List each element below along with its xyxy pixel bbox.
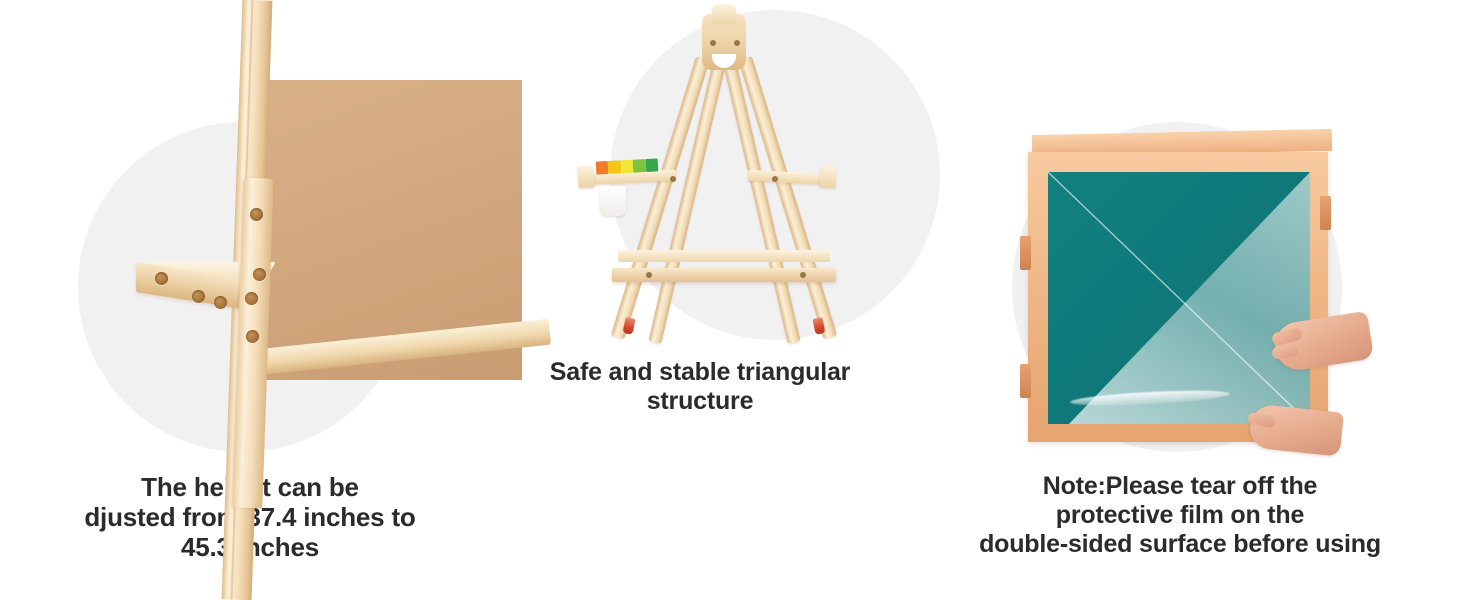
adjustment-hole <box>192 290 205 303</box>
screw-dot <box>646 272 652 278</box>
adjustment-hole <box>253 268 266 281</box>
hand-peeling-lower <box>1248 403 1344 456</box>
adjustment-hole <box>245 292 258 305</box>
chalk-tray-right-lip <box>819 166 836 189</box>
screw-dot <box>670 176 676 182</box>
chalk-lime <box>633 159 646 173</box>
caption-line: protective film on the <box>900 501 1460 530</box>
chalk-orange <box>596 161 609 175</box>
chalk-yellow <box>620 160 633 174</box>
screw-dot <box>710 40 716 46</box>
caption-line: double-sided surface before using <box>900 530 1460 559</box>
chalk-green <box>645 158 658 172</box>
frame-hinge-right <box>1320 196 1331 230</box>
caption-triangular-structure: Safe and stable triangular structure <box>470 358 930 416</box>
caption-protective-film: Note:Please tear off the protective film… <box>900 472 1460 559</box>
accessory-cup <box>600 186 626 216</box>
adjustment-hole <box>250 208 263 221</box>
panel-triangular-structure <box>500 0 920 600</box>
frame-hinge-top <box>1020 236 1031 270</box>
adjustment-hole <box>246 330 259 343</box>
caption-line: structure <box>470 387 930 416</box>
screw-dot <box>772 176 778 182</box>
caption-line: Safe and stable triangular <box>470 358 930 387</box>
chalk-tray-left-lip <box>577 166 594 189</box>
adjustment-hole <box>155 272 168 285</box>
bottom-shelf-surface <box>618 250 830 262</box>
frame-hinge-bottom <box>1020 364 1031 398</box>
rubber-foot-left <box>622 317 635 335</box>
caption-line: Note:Please tear off the <box>900 472 1460 501</box>
screw-dot <box>800 272 806 278</box>
easel-apex-cap <box>712 4 736 24</box>
adjustment-hole <box>214 296 227 309</box>
screw-dot <box>734 40 740 46</box>
product-feature-board: The height can be djusted from 37.4 inch… <box>0 0 1464 600</box>
chalk-amber <box>608 160 621 174</box>
protective-film-edge <box>1048 172 1310 424</box>
product-photo-a-frame-easel <box>500 0 920 350</box>
